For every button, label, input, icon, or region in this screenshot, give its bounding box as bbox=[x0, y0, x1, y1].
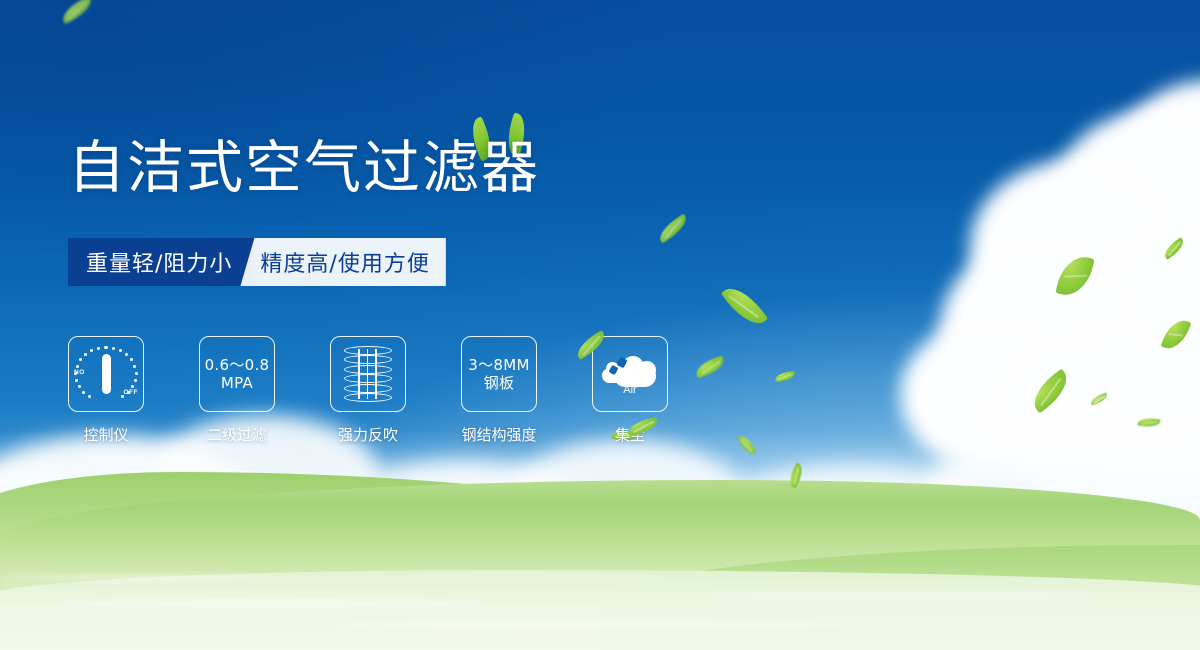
feature-icon-box bbox=[330, 336, 406, 412]
coil-filter-icon bbox=[344, 346, 392, 402]
feature-label: 控制仪 bbox=[83, 424, 128, 445]
feature-label: 强力反吹 bbox=[338, 424, 398, 445]
feature-icon-box: 3～8MM 钢板 bbox=[461, 336, 537, 412]
subtitle-right: 精度高/使用方便 bbox=[240, 238, 445, 286]
feature-icon-box: Air bbox=[592, 336, 668, 412]
steel-thickness: 3～8MM bbox=[468, 356, 529, 374]
grass-streak bbox=[60, 600, 480, 607]
grass-field-front bbox=[0, 570, 1200, 650]
pressure-unit: MPA bbox=[205, 374, 270, 392]
product-banner: 自洁式空气过滤器 重量轻/阻力小 精度高/使用方便 NO OFF bbox=[0, 0, 1200, 650]
feature-item-controller[interactable]: NO OFF bbox=[68, 336, 144, 445]
steel-material: 钢板 bbox=[468, 374, 529, 392]
subtitle-bar: 重量轻/阻力小 精度高/使用方便 bbox=[68, 238, 462, 286]
page-title: 自洁式空气过滤器 bbox=[68, 140, 540, 197]
feature-label: 钢结构强度 bbox=[461, 424, 536, 445]
feature-icon-box: 0.6～0.8 MPA bbox=[199, 336, 275, 412]
steel-plate-text-icon: 3～8MM 钢板 bbox=[468, 356, 529, 392]
air-label: Air bbox=[602, 384, 658, 396]
gauge-icon: NO OFF bbox=[75, 345, 137, 403]
feature-label: 二级过滤 bbox=[207, 424, 267, 445]
grass-streak bbox=[0, 575, 260, 580]
gauge-label-off: OFF bbox=[124, 389, 139, 396]
feature-item-blowback[interactable]: 强力反吹 bbox=[330, 336, 406, 445]
subtitle-left: 重量轻/阻力小 bbox=[68, 238, 254, 286]
pressure-value: 0.6～0.8 bbox=[205, 356, 270, 374]
feature-icon-box: NO OFF bbox=[68, 336, 144, 412]
pressure-text-icon: 0.6～0.8 MPA bbox=[205, 356, 270, 392]
grass-streak bbox=[330, 622, 850, 628]
feature-item-secondary-filter[interactable]: 0.6～0.8 MPA 二级过滤 bbox=[199, 336, 275, 445]
feature-item-steel-strength[interactable]: 3～8MM 钢板 钢结构强度 bbox=[461, 336, 537, 445]
grass-streak bbox=[700, 592, 1100, 598]
air-cloud-icon: Air bbox=[602, 354, 658, 394]
